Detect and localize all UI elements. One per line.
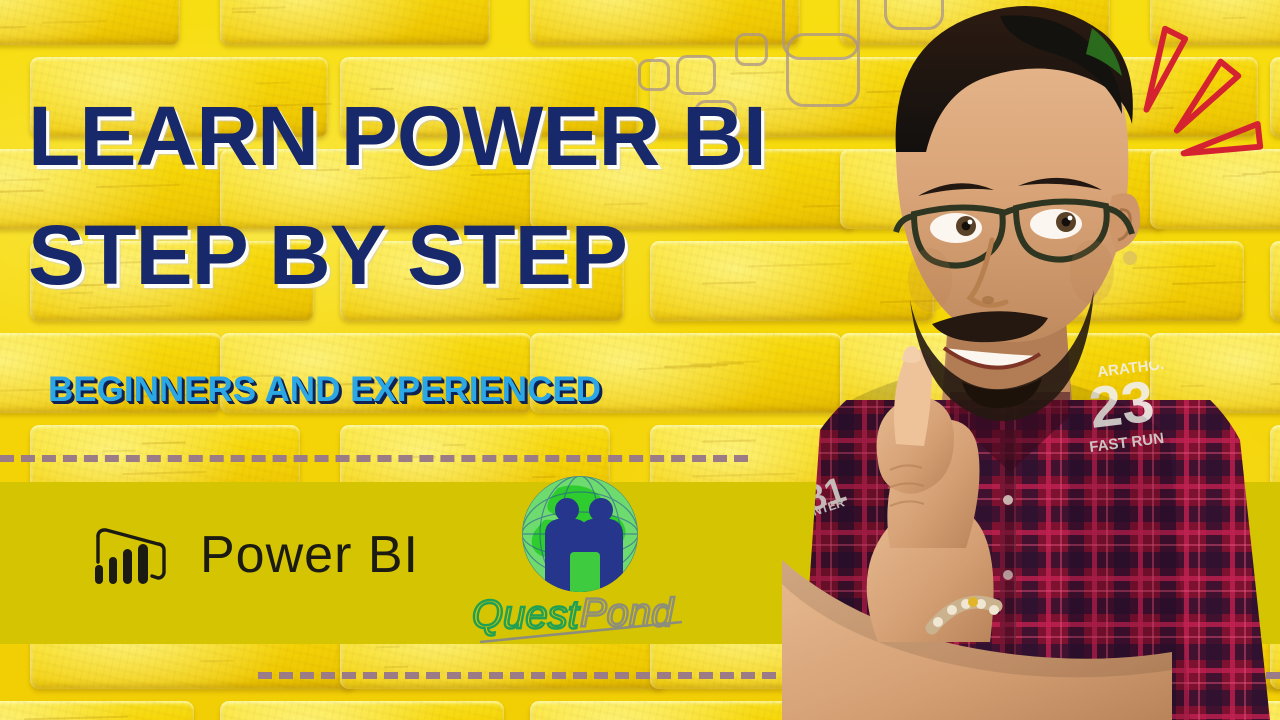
thumbnail-canvas: LEARN POWER BI STEP BY STEP BEGINNERS AN… <box>0 0 1280 720</box>
brick <box>0 0 180 45</box>
questpond-logo: Quest Pond <box>470 474 690 640</box>
subtitle-text: BEGINNERS AND EXPERIENCED <box>48 370 601 410</box>
brick-crack <box>384 666 408 669</box>
brick-crack <box>142 441 186 444</box>
brick-crack <box>256 82 290 85</box>
pointing-presenter-photo: ARATHON 23 FAST RUN ROAD RIDER 81 TRAINI… <box>700 0 1280 720</box>
brick-crack <box>232 6 286 9</box>
brick-crack <box>200 660 234 663</box>
brick-crack <box>122 471 206 475</box>
quest-word: Quest <box>472 593 581 637</box>
brick-crack <box>102 450 136 453</box>
brick-crack <box>24 716 128 720</box>
rounded-square-outline-icon <box>638 59 670 91</box>
title-line-2: STEP BY STEP <box>28 215 766 296</box>
brick-crack <box>0 26 26 30</box>
brick <box>220 701 504 720</box>
globe-handshake-icon <box>514 474 646 592</box>
brick-crack <box>78 305 172 309</box>
questpond-wordmark: Quest Pond <box>470 588 690 640</box>
brick-crack <box>42 20 106 24</box>
brick <box>0 701 194 720</box>
dashed-line-icon <box>0 455 748 462</box>
powerbi-logo: Power BI <box>88 518 419 592</box>
brick-crack <box>442 444 466 447</box>
bar-chart-frame-icon <box>88 518 174 592</box>
brick <box>220 0 490 45</box>
brick-crack <box>232 11 256 14</box>
title-line-1: LEARN POWER BI <box>28 96 766 177</box>
title-block: LEARN POWER BI STEP BY STEP <box>28 96 751 295</box>
brick-crack <box>376 646 400 649</box>
powerbi-label: Power BI <box>200 525 419 585</box>
